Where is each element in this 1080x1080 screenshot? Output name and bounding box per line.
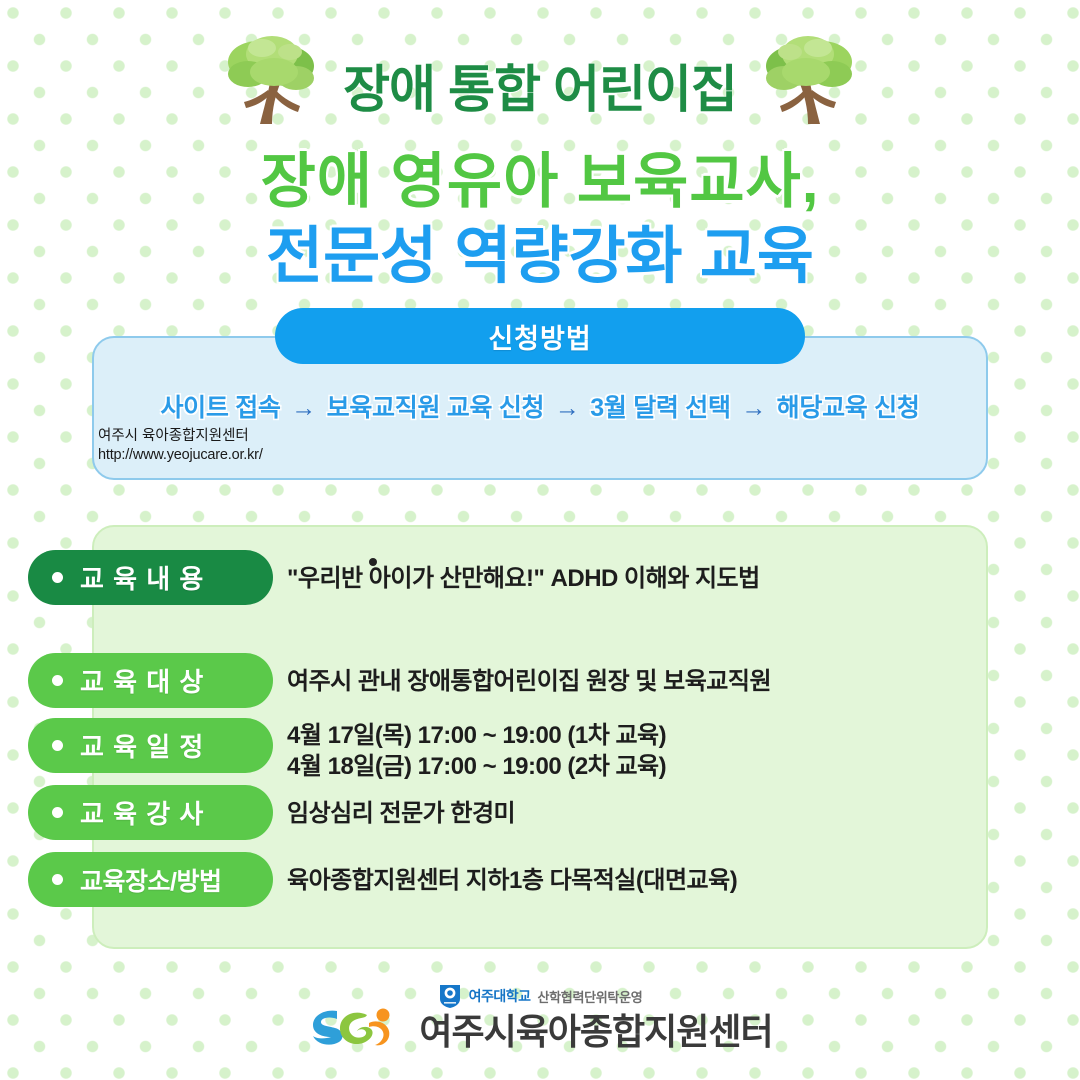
value-education-schedule: 4월 17일(목) 17:00 ~ 19:00 (1차 교육) 4월 18일(금… [273,718,896,782]
badge-dot-icon [52,572,63,583]
badge-dot-icon [52,874,63,885]
badge-label-schedule: 교 육 일 정 [80,727,204,764]
apply-step-3: 3월 달력 선택 [590,394,730,422]
arrow-icon-1: → [287,394,320,422]
poster-subtitle: 장애 통합 어린이집 [0,48,1080,122]
poster-title-secondary: 전문성 역량강화 교육 [0,205,1080,295]
detail-row-target: 교 육 대 상 여주시 관내 장애통합어린이집 원장 및 보육교직원 [0,653,896,708]
apply-site-name: 여주시 육아종합지원센터 [98,427,263,446]
value-education-place: 육아종합지원센터 지하1층 다목적실(대면교육) [273,852,896,896]
arrow-icon-2: → [551,394,584,422]
apply-method-title: 신청방법 [488,317,591,356]
apply-site-url[interactable]: http://www.yeojucare.or.kr/ [98,446,263,465]
poster-footer: 여주대학교 산학협력단위탁운영 여주시육아종합지원센터 [0,975,1080,1080]
detail-row-content: 교 육 내 용 "우리반 아이가 산만해요!" ADHD 이해와 지도법 [0,550,896,605]
center-name: 여주시육아종합지원센터 [419,1003,772,1055]
apply-step-4: 해당교육 신청 [777,394,920,422]
apply-flow-steps: 사이트 접속 → 보육교직원 교육 신청 → 3월 달력 선택 → 해당교육 신… [92,388,988,424]
apply-step-1: 사이트 접속 [160,394,280,422]
arrow-icon-3: → [737,394,770,422]
schedule-session-1: 4월 17일(목) 17:00 ~ 19:00 (1차 교육) [287,720,896,751]
poster-background: 장애 통합 어린이집 장애 영유아 보육교사, 전문성 역량강화 교육 신청방법… [0,0,1080,1080]
center-brand-row: 여주시육아종합지원센터 [0,1003,1080,1055]
apply-step-2: 보육교직원 교육 신청 [327,394,545,422]
poster-header: 장애 통합 어린이집 장애 영유아 보육교사, 전문성 역량강화 교육 [0,0,1080,300]
badge-education-schedule: 교 육 일 정 [28,718,273,773]
badge-label-target: 교 육 대 상 [80,662,204,699]
badge-education-target: 교 육 대 상 [28,653,273,708]
value-education-lecturer: 임상심리 전문가 한경미 [273,785,896,829]
apply-site-note: 여주시 육아종합지원센터 http://www.yeojucare.or.kr/ [98,427,263,465]
badge-label-lecturer: 교 육 강 사 [80,794,204,831]
badge-education-place: 교육장소/방법 [28,852,273,907]
value-education-content: "우리반 아이가 산만해요!" ADHD 이해와 지도법 [273,550,896,594]
detail-row-place: 교육장소/방법 육아종합지원센터 지하1층 다목적실(대면교육) [0,852,896,907]
badge-dot-icon [52,740,63,751]
badge-label-content: 교 육 내 용 [80,559,204,596]
badge-dot-icon [52,807,63,818]
schedule-session-2: 4월 18일(금) 17:00 ~ 19:00 (2차 교육) [287,751,896,782]
detail-row-schedule: 교 육 일 정 4월 17일(목) 17:00 ~ 19:00 (1차 교육) … [0,718,896,782]
value-education-target: 여주시 관내 장애통합어린이집 원장 및 보육교직원 [273,653,896,697]
sco-logo-icon [307,1003,407,1055]
badge-education-content: 교 육 내 용 [28,550,273,605]
badge-education-lecturer: 교 육 강 사 [28,785,273,840]
apply-method-header-pill: 신청방법 [275,308,805,364]
detail-row-lecturer: 교 육 강 사 임상심리 전문가 한경미 [0,785,896,840]
badge-dot-icon [52,675,63,686]
badge-label-place: 교육장소/방법 [80,862,221,898]
